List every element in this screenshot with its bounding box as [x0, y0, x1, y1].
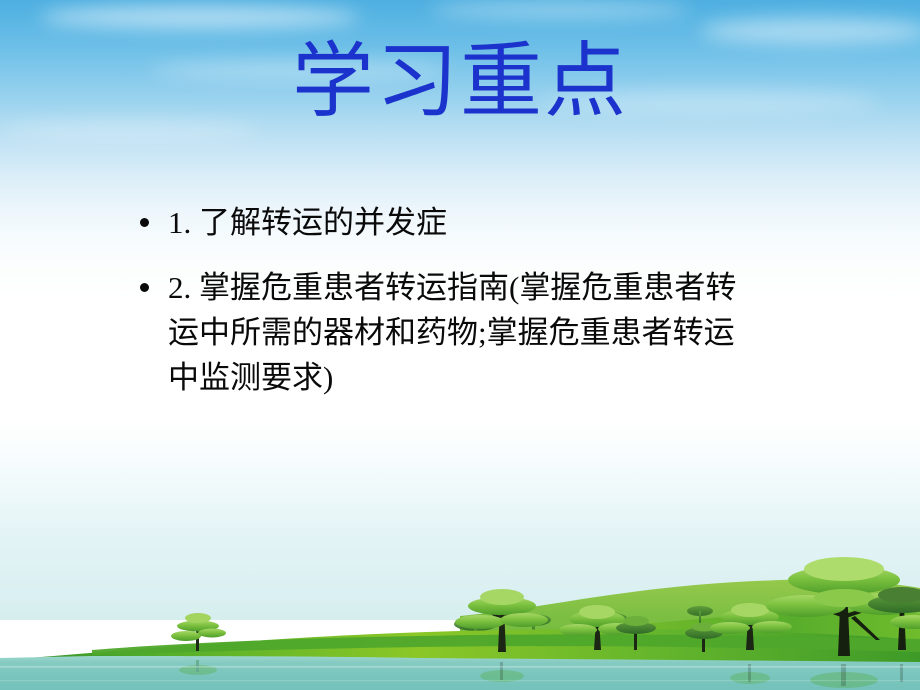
bullet-item-1: 1. 了解转运的并发症 [134, 200, 920, 245]
water-surface [0, 656, 920, 690]
cloud-wisp-icon [430, 2, 690, 18]
bullet-item-2-line-1: 2. 掌握危重患者转运指南(掌握危重患者转 [134, 265, 920, 310]
bullet-item-2-line-2: 运中所需的器材和药物;掌握危重患者转运 [134, 310, 920, 355]
landscape-illustration [0, 500, 920, 690]
bullet-dot-icon [140, 283, 149, 292]
slide-body-content: 1. 了解转运的并发症 2. 掌握危重患者转运指南(掌握危重患者转 运中所需的器… [134, 200, 920, 400]
slide-title: 学习重点 [0, 34, 920, 130]
presentation-slide: 学习重点 1. 了解转运的并发症 2. 掌握危重患者转运指南(掌握危重患者转 运… [0, 0, 920, 690]
bullet-item-2-line-3: 中监测要求) [134, 355, 920, 400]
bullet-item-2: 2. 掌握危重患者转运指南(掌握危重患者转 运中所需的器材和药物;掌握危重患者转… [134, 265, 920, 400]
bullet-spacer [134, 245, 920, 265]
bullet-dot-icon [140, 218, 149, 227]
cloud-wisp-icon [40, 6, 360, 28]
bullet-item-1-line-1: 1. 了解转运的并发症 [134, 200, 920, 245]
